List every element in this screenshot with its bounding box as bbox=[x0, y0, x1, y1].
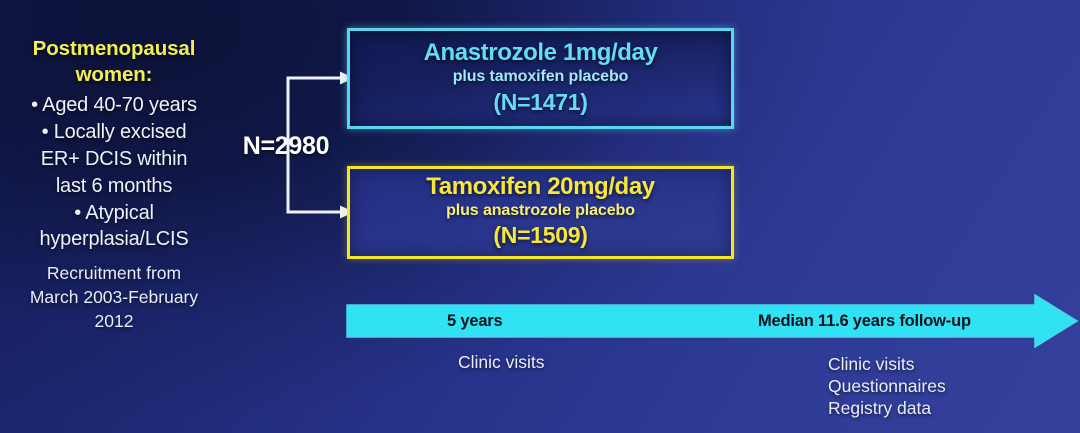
treatment-arm-tamoxifen: Tamoxifen 20mg/day plus anastrozole plac… bbox=[347, 166, 734, 259]
list-item: • Atypical bbox=[0, 200, 228, 227]
recruitment-line: Recruitment from bbox=[0, 262, 228, 286]
list-item: Questionnaires bbox=[828, 375, 946, 397]
list-item: ER+ DCIS within bbox=[0, 146, 228, 173]
arm-subtitle: plus tamoxifen placebo bbox=[350, 68, 731, 86]
list-item: • Locally excised bbox=[0, 119, 228, 146]
eligibility-title-line2: women: bbox=[76, 63, 153, 86]
arm-title: Tamoxifen 20mg/day bbox=[350, 173, 731, 201]
timeline-followup-label: Median 11.6 years follow-up bbox=[758, 312, 971, 331]
eligibility-title-line1: Postmenopausal bbox=[33, 37, 196, 60]
eligibility-title: Postmenopausal women: bbox=[0, 36, 228, 88]
treatment-arm-anastrozole: Anastrozole 1mg/day plus tamoxifen place… bbox=[347, 28, 734, 129]
recruitment-period-block: Recruitment from March 2003-February 201… bbox=[0, 262, 228, 334]
list-item: hyperplasia/LCIS bbox=[0, 226, 228, 253]
followup-phase-notes: Clinic visits Questionnaires Registry da… bbox=[828, 353, 946, 420]
timeline-treatment-label: 5 years bbox=[447, 312, 503, 331]
eligibility-criteria-block: Postmenopausal women: • Aged 40-70 years… bbox=[0, 36, 228, 253]
list-item: last 6 months bbox=[0, 173, 228, 200]
arm-sample-size: (N=1509) bbox=[350, 222, 731, 249]
treatment-phase-notes: Clinic visits bbox=[458, 351, 545, 373]
recruitment-line: March 2003-February bbox=[0, 286, 228, 310]
list-item: • Aged 40-70 years bbox=[0, 92, 228, 119]
trial-design-slide: Postmenopausal women: • Aged 40-70 years… bbox=[0, 0, 1080, 433]
list-item: Clinic visits bbox=[828, 353, 946, 375]
arm-sample-size: (N=1471) bbox=[350, 89, 731, 116]
arm-title: Anastrozole 1mg/day bbox=[350, 39, 731, 67]
arm-subtitle: plus anastrozole placebo bbox=[350, 202, 731, 220]
recruitment-line: 2012 bbox=[0, 310, 228, 334]
list-item: Registry data bbox=[828, 397, 946, 419]
eligibility-criteria-list: • Aged 40-70 years • Locally excised ER+… bbox=[0, 92, 228, 253]
list-item: Clinic visits bbox=[458, 352, 545, 372]
